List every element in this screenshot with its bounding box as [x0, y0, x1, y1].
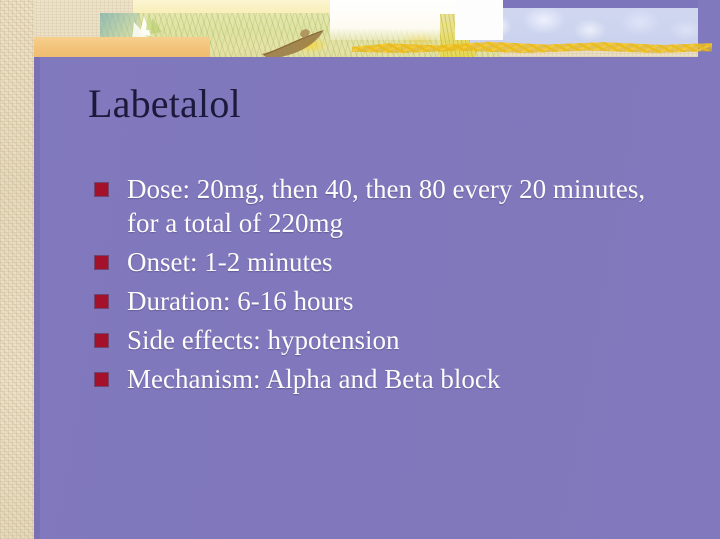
bullet-square-icon	[95, 334, 108, 347]
bullet-square-icon	[95, 295, 108, 308]
bullet-text: Onset: 1-2 minutes	[127, 247, 332, 277]
header-leaf-icon	[258, 28, 338, 60]
bullet-item-mechanism: Mechanism: Alpha and Beta block	[92, 362, 662, 396]
header-hydrangea-image	[470, 6, 720, 48]
slide-title: Labetalol	[88, 80, 648, 128]
slide-header-decoration	[0, 0, 720, 60]
bullet-square-icon	[95, 373, 108, 386]
bullet-square-icon	[95, 256, 108, 269]
bullet-item-side-effects: Side effects: hypotension	[92, 323, 662, 357]
header-white-block	[455, 0, 503, 40]
bullet-square-icon	[95, 183, 108, 196]
slide-content-left-edge	[34, 57, 40, 539]
bullet-item-onset: Onset: 1-2 minutes	[92, 245, 662, 279]
bullet-text: Mechanism: Alpha and Beta block	[127, 364, 500, 394]
bullet-item-duration: Duration: 6-16 hours	[92, 284, 662, 318]
bullet-item-dose: Dose: 20mg, then 40, then 80 every 20 mi…	[92, 172, 662, 240]
presentation-slide: Labetalol Dose: 20mg, then 40, then 80 e…	[0, 0, 720, 539]
bullet-text: Side effects: hypotension	[127, 325, 399, 355]
bullet-text: Dose: 20mg, then 40, then 80 every 20 mi…	[127, 174, 645, 238]
bullet-text: Duration: 6-16 hours	[127, 286, 353, 316]
left-margin-texture	[0, 0, 34, 539]
bullet-list: Dose: 20mg, then 40, then 80 every 20 mi…	[92, 172, 662, 401]
header-purple-top-right	[503, 0, 720, 8]
